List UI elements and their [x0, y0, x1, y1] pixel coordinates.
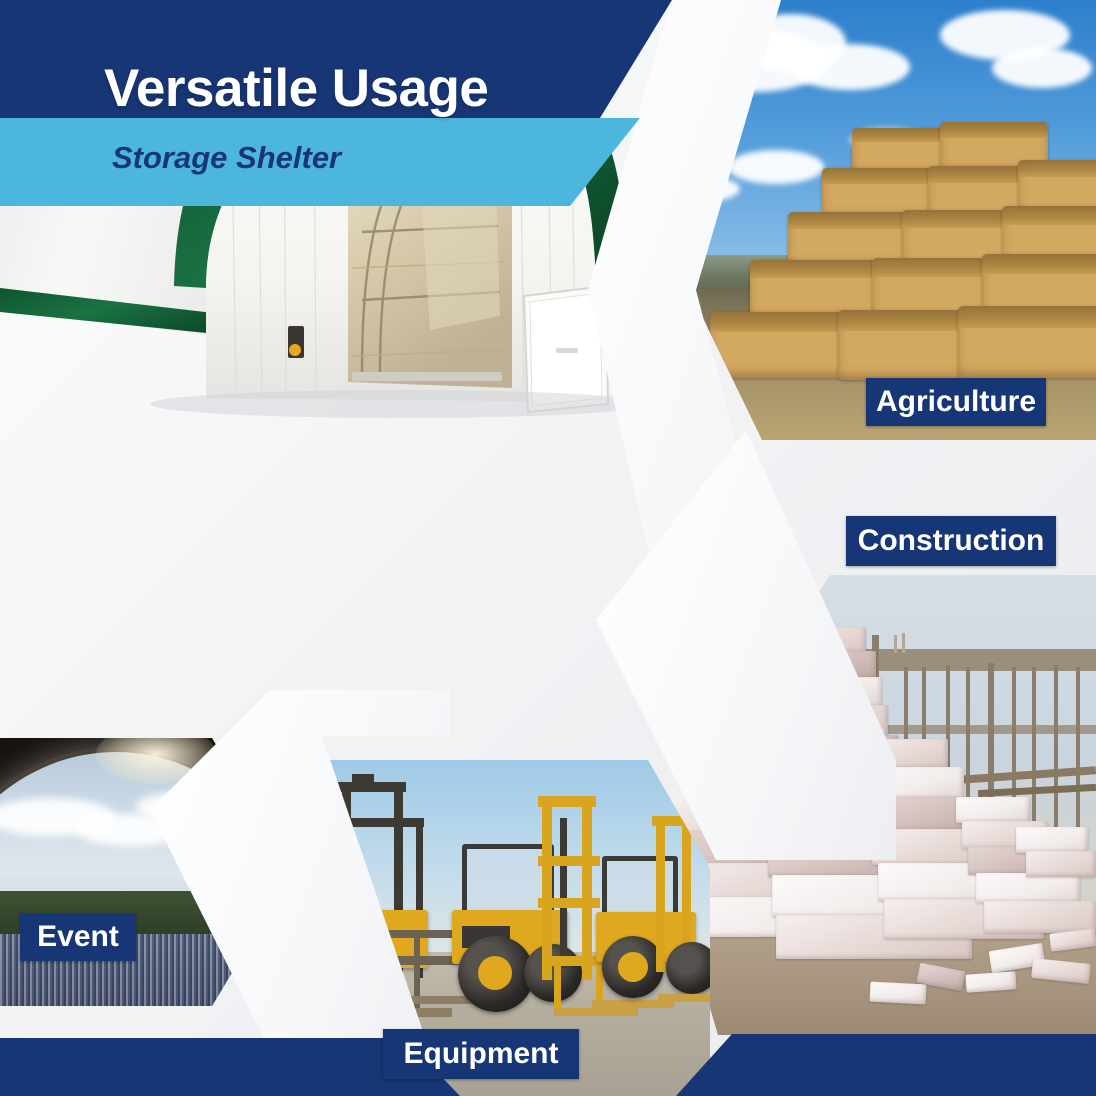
- page-title: Versatile Usage: [104, 58, 488, 119]
- hay-bale: [838, 310, 978, 380]
- badge-equipment[interactable]: Equipment: [383, 1029, 579, 1079]
- mast-crossbar: [538, 856, 600, 866]
- concrete-beam: [866, 725, 1096, 734]
- rebar: [1032, 667, 1036, 837]
- wheel-hub: [478, 956, 512, 990]
- rebar: [1076, 667, 1080, 835]
- concrete-block: [870, 982, 927, 1005]
- concrete-block: [1016, 827, 1088, 853]
- rebar-tip: [902, 633, 905, 653]
- badge-event[interactable]: Event: [20, 913, 136, 961]
- fork-tine: [554, 1008, 638, 1016]
- rebar: [1054, 665, 1058, 837]
- tire: [666, 942, 710, 994]
- corner-accent-bottom-right: [676, 1034, 1096, 1096]
- lift-cylinder: [560, 818, 567, 968]
- mast-crossbar: [538, 796, 596, 807]
- cloud: [790, 44, 910, 90]
- fork-tine: [658, 994, 710, 1002]
- concrete-block: [1026, 851, 1096, 877]
- cloud: [728, 150, 824, 184]
- tire: [524, 944, 582, 1002]
- hay-bale: [958, 306, 1096, 378]
- concrete-block: [956, 797, 1030, 823]
- mast-rail: [542, 802, 552, 980]
- concrete-block: [965, 971, 1016, 992]
- rebar-tip: [894, 635, 897, 653]
- fork-upright: [554, 966, 561, 1010]
- concrete-block: [984, 901, 1096, 933]
- mast-rail: [582, 802, 592, 980]
- cloud: [992, 48, 1092, 88]
- mast-crossbar: [538, 898, 600, 908]
- mast-rail: [656, 822, 665, 972]
- mast-cap: [352, 774, 374, 790]
- infographic-canvas: Versatile Usage Storage Shelter Agricult…: [0, 0, 1096, 1096]
- concrete-beam: [866, 649, 1096, 671]
- badge-construction[interactable]: Construction: [846, 516, 1056, 566]
- wheel-hub: [618, 952, 648, 982]
- badge-agriculture[interactable]: Agriculture: [866, 378, 1046, 426]
- page-subtitle: Storage Shelter: [112, 140, 341, 176]
- concrete-block: [976, 873, 1080, 903]
